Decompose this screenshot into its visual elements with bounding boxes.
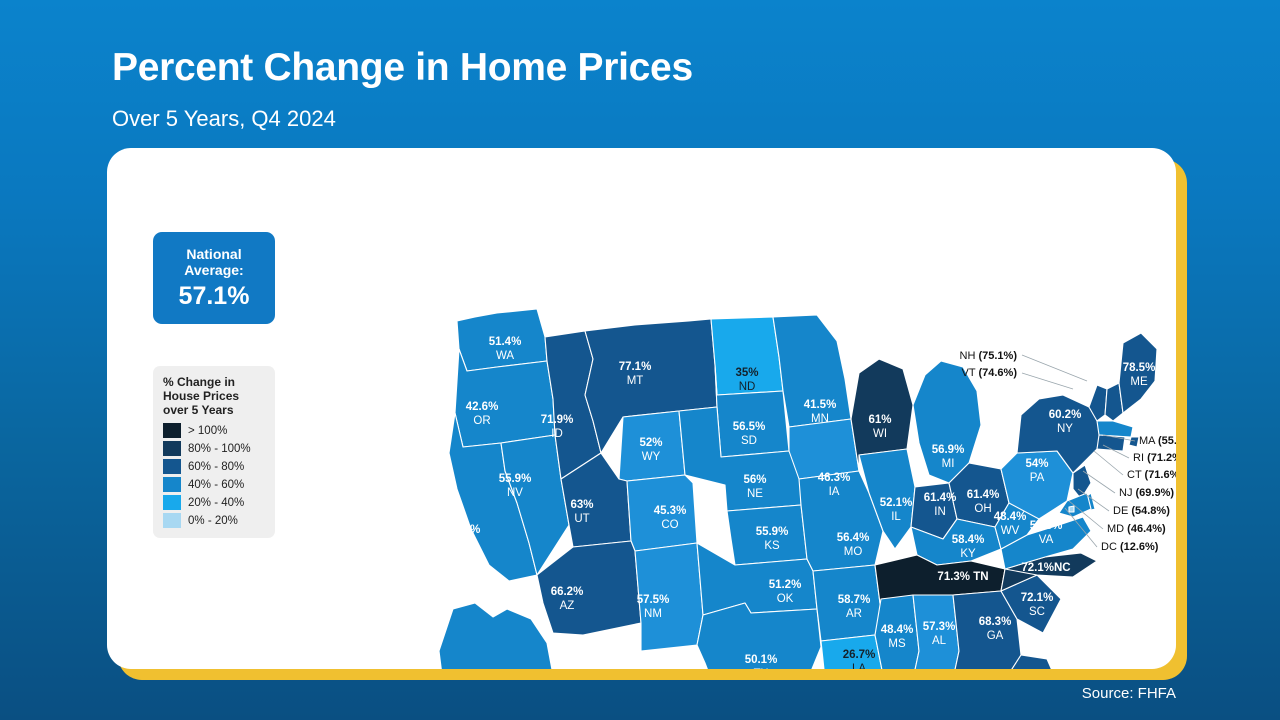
state-me[interactable] xyxy=(1119,333,1157,413)
state-nm[interactable] xyxy=(635,543,703,651)
state-ma[interactable] xyxy=(1097,421,1133,437)
legend-title-line-1: % Change in xyxy=(163,375,265,389)
legend-item-label: > 100% xyxy=(188,425,227,437)
leader-line-ct xyxy=(1094,451,1123,475)
legend-title-line-2: House Prices xyxy=(163,389,265,403)
state-ar[interactable] xyxy=(813,565,881,641)
state-ms[interactable] xyxy=(875,595,919,669)
legend-item-label: 0% - 20% xyxy=(188,515,238,527)
legend-title-line-3: over 5 Years xyxy=(163,403,265,417)
callout-nh: NH (75.1%) xyxy=(960,350,1018,362)
national-average-value: 57.1% xyxy=(179,282,250,311)
state-ri[interactable] xyxy=(1129,437,1139,447)
state-abbr-ca: CA xyxy=(456,538,472,550)
callout-de: DE (54.8%) xyxy=(1113,505,1170,517)
legend-item-0: > 100% xyxy=(163,423,265,438)
legend-item-1: 80% - 100% xyxy=(163,441,265,456)
callout-md: MD (46.4%) xyxy=(1107,523,1166,535)
state-shapes-group xyxy=(437,309,1157,669)
legend-item-label: 20% - 40% xyxy=(188,497,244,509)
national-average-box: National Average: 57.1% xyxy=(153,232,275,324)
callout-vt: VT (74.6%) xyxy=(962,367,1018,379)
callout-ma: MA (55.4%) xyxy=(1139,435,1176,447)
us-choropleth-map[interactable]: 51.4%WA42.6%OR45.8%CA55.9%NV71.9%ID77.1%… xyxy=(397,303,1176,669)
state-nd[interactable] xyxy=(711,317,783,395)
legend-rows: > 100%80% - 100%60% - 80%40% - 60%20% - … xyxy=(163,423,265,528)
callout-ri: RI (71.2%) xyxy=(1133,452,1176,464)
national-average-label-1: National xyxy=(186,246,241,262)
state-al[interactable] xyxy=(913,595,959,669)
legend-swatch-icon xyxy=(163,477,181,492)
legend-item-2: 60% - 80% xyxy=(163,459,265,474)
legend-swatch-icon xyxy=(163,495,181,510)
state-dc[interactable] xyxy=(1069,506,1074,512)
state-ak[interactable] xyxy=(437,603,553,669)
legend-item-3: 40% - 60% xyxy=(163,477,265,492)
state-tx[interactable] xyxy=(697,603,821,669)
page-subtitle: Over 5 Years, Q4 2024 xyxy=(112,106,336,132)
national-average-label-2: Average: xyxy=(184,262,243,278)
callout-nj: NJ (69.9%) xyxy=(1119,487,1174,499)
state-wa[interactable] xyxy=(457,309,547,371)
legend-item-label: 60% - 80% xyxy=(188,461,244,473)
page-title: Percent Change in Home Prices xyxy=(112,46,693,90)
legend-item-5: 0% - 20% xyxy=(163,513,265,528)
state-wy[interactable] xyxy=(619,411,685,481)
source-attribution: Source: FHFA xyxy=(1082,685,1176,702)
legend-swatch-icon xyxy=(163,423,181,438)
legend-swatch-icon xyxy=(163,459,181,474)
state-ks[interactable] xyxy=(727,505,807,565)
leader-line-vt xyxy=(1022,373,1073,389)
map-legend: % Change in House Prices over 5 Years > … xyxy=(153,366,275,538)
callout-ct: CT (71.6%) xyxy=(1127,469,1176,481)
leader-line-nh xyxy=(1022,355,1087,381)
state-ia[interactable] xyxy=(789,419,859,479)
legend-item-4: 20% - 40% xyxy=(163,495,265,510)
callout-dc: DC (12.6%) xyxy=(1101,541,1159,553)
legend-swatch-icon xyxy=(163,513,181,528)
legend-item-label: 40% - 60% xyxy=(188,479,244,491)
legend-swatch-icon xyxy=(163,441,181,456)
state-az[interactable] xyxy=(537,541,641,635)
legend-item-label: 80% - 100% xyxy=(188,443,251,455)
state-co[interactable] xyxy=(627,475,697,551)
